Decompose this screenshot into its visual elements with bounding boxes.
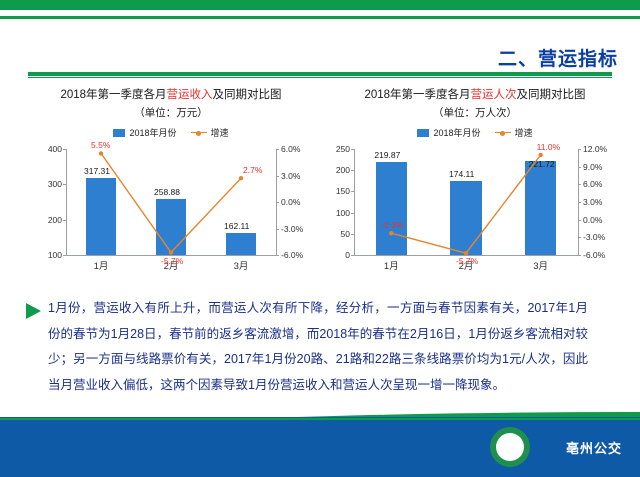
growth-line-chart [328,143,622,271]
legend-item-bar: 2018年月份 [113,126,176,139]
page-title: 二、营运指标 [498,44,618,71]
chart-title-highlight: 营运收入 [167,89,213,101]
legend-line-label: 增速 [211,126,229,139]
footer-green-line [0,418,640,420]
legend-bar-label: 2018年月份 [129,126,176,139]
slide-page: 二、营运指标 2018年第一季度各月营运收入及同期对比图 （单位：万元） 201… [0,0,640,477]
chart-panel-revenue: 2018年第一季度各月营运收入及同期对比图 （单位：万元） 2018年月份 增速… [26,86,316,286]
logo-badge [490,427,530,467]
legend-bar-swatch [113,129,125,137]
logo-inner [496,433,524,461]
chart-title-suffix: 及同期对比图 [517,89,586,101]
analysis-paragraph: 1月份，营运收入有所上升，而营运人次有所下降，经分析，一方面与春节因素有关，20… [48,296,588,399]
legend-item-line: 增速 [191,126,229,139]
growth-value-label: -5.7% [456,256,478,266]
brand-name: 亳州公交 [566,438,622,457]
legend-line-swatch [191,132,207,133]
title-divider [28,72,612,76]
growth-value-label: -5.7% [161,256,183,266]
chart-title-suffix: 及同期对比图 [213,89,282,101]
chart-title-prefix: 2018年第一季度各月 [364,89,470,101]
legend-bar-label: 2018年月份 [433,126,480,139]
legend-line-swatch [495,132,511,133]
growth-value-label: -2.3% [381,220,403,230]
title-divider-thin [28,77,612,78]
chart-title-passengers: 2018年第一季度各月营运人次及同期对比图 [328,86,622,102]
chart-title-prefix: 2018年第一季度各月 [60,89,166,101]
bullet-arrow-icon [26,303,41,319]
top-green-line [0,16,640,19]
chart-panel-passengers: 2018年第一季度各月营运人次及同期对比图 （单位：万人次） 2018年月份 增… [328,86,622,286]
growth-value-label: 2.7% [243,165,262,175]
footer-blue-band [0,417,640,477]
chart-plot-passengers: 050100150200250-6.0%-3.0%0.0%3.0%6.0%9.0… [328,143,622,271]
growth-value-label: 5.5% [91,140,110,150]
legend-line-label: 增速 [515,126,533,139]
chart-title-revenue: 2018年第一季度各月营运收入及同期对比图 [26,86,316,102]
growth-line-chart [26,143,316,271]
growth-value-label: 11.0% [537,142,560,152]
chart-legend-revenue: 2018年月份 增速 [26,126,316,139]
legend-bar-swatch [417,129,429,137]
legend-item-bar: 2018年月份 [417,126,480,139]
chart-unit-revenue: （单位：万元） [26,105,316,120]
legend-item-line: 增速 [495,126,533,139]
chart-plot-revenue: 100200300400-6.0%-3.0%0.0%3.0%6.0%1月2月3月… [26,143,316,271]
chart-title-highlight: 营运人次 [471,89,517,101]
top-green-band [0,0,640,10]
chart-legend-passengers: 2018年月份 增速 [328,126,622,139]
chart-unit-passengers: （单位：万人次） [328,105,622,120]
